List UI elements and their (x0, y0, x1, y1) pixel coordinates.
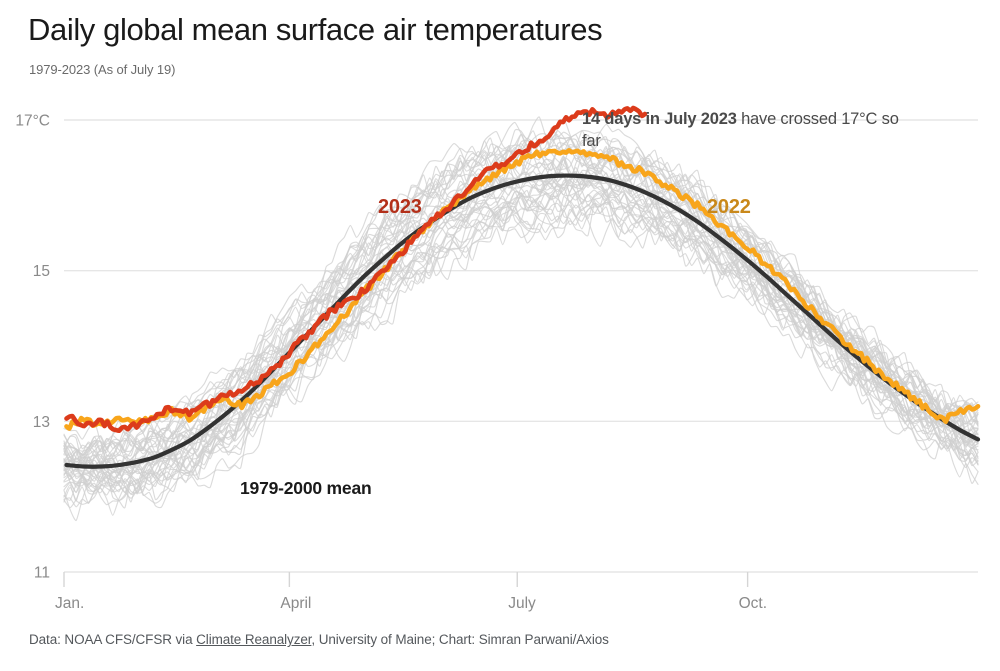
spaghetti-year-line (64, 154, 978, 472)
series-lines-group (67, 108, 979, 467)
x-tick-label: Oct. (739, 595, 767, 612)
y-tick-label: 15 (33, 263, 50, 280)
series-label-2023: 2023 (378, 196, 422, 218)
y-tick-label: 17°C (15, 113, 50, 130)
x-tick-label: April (280, 595, 311, 612)
x-tick-label: July (508, 595, 536, 612)
series-line-2022 (67, 150, 979, 428)
temperature-line-chart: 17°C151311 Jan.AprilJulyOct. 20232022197… (0, 0, 1000, 671)
x-tick-label: Jan. (55, 595, 84, 612)
chart-root: Daily global mean surface air temperatur… (0, 0, 1000, 671)
climate-reanalyzer-link[interactable]: Climate Reanalyzer (196, 632, 311, 647)
spaghetti-lines-group (64, 117, 978, 521)
callout-annotation: 14 days in July 2023 have crossed 17°C s… (582, 108, 912, 152)
y-tick-label: 11 (34, 565, 50, 582)
spaghetti-year-line (64, 135, 978, 475)
spaghetti-year-line (64, 154, 978, 470)
callout-highlight: 14 days in July 2023 (582, 110, 737, 128)
x-axis-ticks: Jan.AprilJulyOct. (55, 572, 767, 612)
source-suffix: , University of Maine; Chart: Simran Par… (311, 632, 608, 647)
source-prefix: Data: NOAA CFS/CFSR via (29, 632, 196, 647)
series-label-2022: 2022 (707, 196, 751, 218)
mean-line-label: 1979-2000 mean (240, 478, 371, 498)
series-line-2023 (67, 108, 645, 431)
y-axis-ticks: 17°C151311 (15, 113, 50, 582)
source-note: Data: NOAA CFS/CFSR via Climate Reanalyz… (29, 632, 609, 647)
y-tick-label: 13 (33, 414, 50, 431)
